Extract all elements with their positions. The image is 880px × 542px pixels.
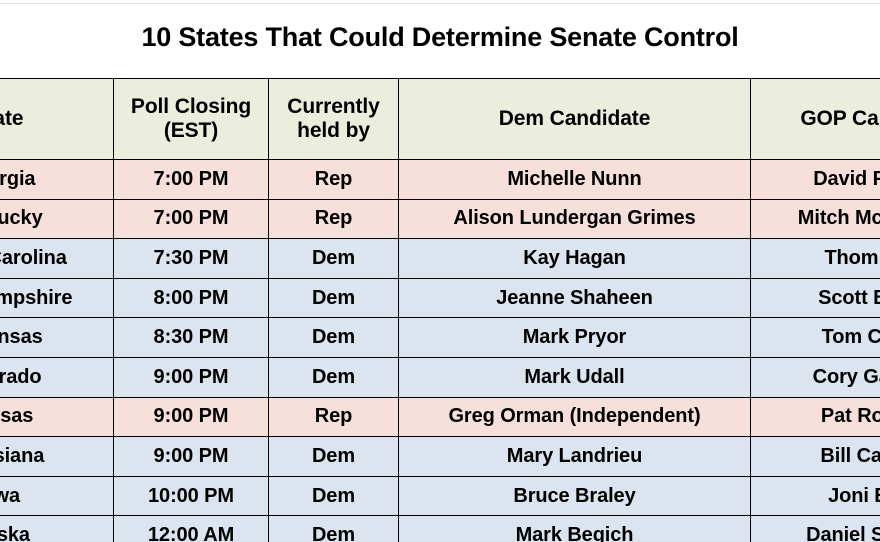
column-header-poll-closing-line2: (EST) [114, 119, 268, 143]
cell-poll-closing: 7:00 PM [114, 160, 269, 200]
cell-currently-held-by: Dem [269, 437, 399, 477]
cell-state: Kentucky [0, 199, 114, 239]
cell-poll-closing: 8:30 PM [114, 318, 269, 358]
cell-poll-closing: 9:00 PM [114, 397, 269, 437]
cell-gop-candidate: David Perdue [751, 160, 880, 200]
cell-dem-candidate: Alison Lundergan Grimes [399, 199, 751, 239]
cell-currently-held-by: Dem [269, 239, 399, 279]
cell-gop-candidate: Bill Cassidy [751, 437, 880, 477]
cell-poll-closing: 12:00 AM [114, 516, 269, 542]
cell-currently-held-by: Rep [269, 160, 399, 200]
cell-dem-candidate: Mark Pryor [399, 318, 751, 358]
column-header-state: State [0, 79, 114, 160]
cell-state: Georgia [0, 160, 114, 200]
column-header-poll-closing: Poll Closing (EST) [114, 79, 269, 160]
cell-state: Alaska [0, 516, 114, 542]
cell-gop-candidate: Mitch McConnell [751, 199, 880, 239]
table-scroll-area: State Poll Closing (EST) Currently held … [0, 78, 880, 542]
table-row: Kentucky7:00 PMRepAlison Lundergan Grime… [0, 199, 880, 239]
table-row: Arkansas8:30 PMDemMark PryorTom Cotton [0, 318, 880, 358]
cell-currently-held-by: Dem [269, 318, 399, 358]
table-header: State Poll Closing (EST) Currently held … [0, 79, 880, 160]
table-row: Colorado9:00 PMDemMark UdallCory Gardner [0, 357, 880, 397]
cell-state: New Hampshire [0, 278, 114, 318]
cell-poll-closing: 9:00 PM [114, 437, 269, 477]
cell-currently-held-by: Dem [269, 278, 399, 318]
table-row: Kansas9:00 PMRepGreg Orman (Independent)… [0, 397, 880, 437]
cell-state: Louisiana [0, 437, 114, 477]
top-divider [0, 3, 880, 4]
cell-currently-held-by: Dem [269, 516, 399, 542]
column-header-currently-held-by-line1: Currently [269, 95, 398, 119]
cell-state: Iowa [0, 476, 114, 516]
cell-dem-candidate: Jeanne Shaheen [399, 278, 751, 318]
cell-dem-candidate: Kay Hagan [399, 239, 751, 279]
cell-dem-candidate: Mary Landrieu [399, 437, 751, 477]
cell-dem-candidate: Mark Begich [399, 516, 751, 542]
table-header-row: State Poll Closing (EST) Currently held … [0, 79, 880, 160]
cell-state: Kansas [0, 397, 114, 437]
cell-currently-held-by: Rep [269, 199, 399, 239]
page-title: 10 States That Could Determine Senate Co… [0, 22, 880, 53]
cell-dem-candidate: Mark Udall [399, 357, 751, 397]
cell-dem-candidate: Michelle Nunn [399, 160, 751, 200]
cell-state: Colorado [0, 357, 114, 397]
cell-gop-candidate: Daniel Sullivan [751, 516, 880, 542]
table-row: Louisiana9:00 PMDemMary LandrieuBill Cas… [0, 437, 880, 477]
cell-poll-closing: 9:00 PM [114, 357, 269, 397]
table-row: New Hampshire8:00 PMDemJeanne ShaheenSco… [0, 278, 880, 318]
senate-control-table: State Poll Closing (EST) Currently held … [0, 78, 880, 542]
cell-gop-candidate: Tom Cotton [751, 318, 880, 358]
table-row: Iowa10:00 PMDemBruce BraleyJoni Ernst [0, 476, 880, 516]
cell-gop-candidate: Cory Gardner [751, 357, 880, 397]
cell-poll-closing: 8:00 PM [114, 278, 269, 318]
column-header-poll-closing-line1: Poll Closing [114, 95, 268, 119]
cell-gop-candidate: Joni Ernst [751, 476, 880, 516]
table-row: Georgia7:00 PMRepMichelle NunnDavid Perd… [0, 160, 880, 200]
column-header-gop-candidate-line2: GOP Candidate [751, 107, 880, 131]
cell-gop-candidate: Scott Brown [751, 278, 880, 318]
table-row: North Carolina7:30 PMDemKay HaganThom Ti… [0, 239, 880, 279]
column-header-currently-held-by: Currently held by [269, 79, 399, 160]
cell-dem-candidate: Greg Orman (Independent) [399, 397, 751, 437]
table-viewport: State Poll Closing (EST) Currently held … [0, 78, 880, 542]
column-header-state-line2: State [0, 107, 113, 131]
cell-state: North Carolina [0, 239, 114, 279]
cell-gop-candidate: Pat Roberts [751, 397, 880, 437]
cell-dem-candidate: Bruce Braley [399, 476, 751, 516]
cell-state: Arkansas [0, 318, 114, 358]
cell-currently-held-by: Dem [269, 357, 399, 397]
table-body: Georgia7:00 PMRepMichelle NunnDavid Perd… [0, 160, 880, 542]
column-header-gop-candidate: GOP Candidate [751, 79, 880, 160]
cell-poll-closing: 7:00 PM [114, 199, 269, 239]
page-root: 10 States That Could Determine Senate Co… [0, 0, 880, 542]
cell-poll-closing: 7:30 PM [114, 239, 269, 279]
cell-currently-held-by: Rep [269, 397, 399, 437]
cell-currently-held-by: Dem [269, 476, 399, 516]
column-header-dem-candidate: Dem Candidate [399, 79, 751, 160]
column-header-currently-held-by-line2: held by [269, 119, 398, 143]
table-row: Alaska12:00 AMDemMark BegichDaniel Sulli… [0, 516, 880, 542]
cell-poll-closing: 10:00 PM [114, 476, 269, 516]
column-header-dem-candidate-line2: Dem Candidate [399, 107, 750, 131]
cell-gop-candidate: Thom Tillis [751, 239, 880, 279]
